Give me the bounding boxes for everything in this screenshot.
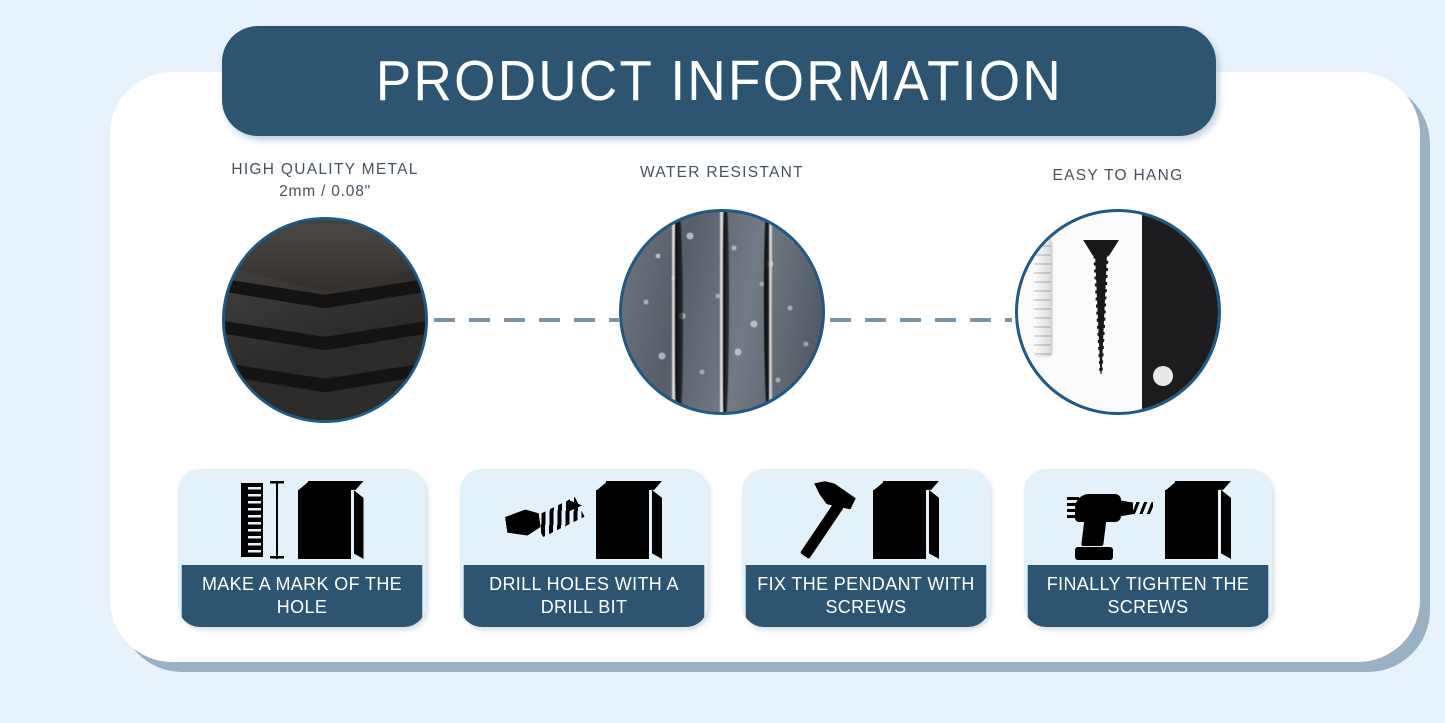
- step-icon-group: [1024, 469, 1272, 565]
- features-row: HIGH QUALITY METAL 2mm / 0.08" WATER RES…: [110, 150, 1420, 440]
- header-banner: PRODUCT INFORMATION: [222, 26, 1216, 136]
- step-icon-group: [742, 469, 990, 565]
- screw-and-wall-anchor-photo: [1015, 209, 1221, 415]
- feature-label: HIGH QUALITY METAL: [195, 160, 455, 181]
- step-card-fix-pendant: FIX THE PENDANT WITH SCREWS: [742, 469, 990, 627]
- ruler-icon: [241, 483, 263, 557]
- step-caption: MAKE A MARK OF THE HOLE: [182, 565, 423, 627]
- box-icon: [596, 481, 662, 559]
- feature-label: WATER RESISTANT: [592, 163, 852, 184]
- power-drill-icon: [1065, 480, 1151, 560]
- hammer-icon: [793, 480, 859, 560]
- feature-label: EASY TO HANG: [988, 166, 1248, 187]
- step-caption: FIX THE PENDANT WITH SCREWS: [746, 565, 987, 627]
- installation-steps-row: MAKE A MARK OF THE HOLE DRILL HOLES WITH…: [178, 469, 1274, 627]
- step-caption: FINALLY TIGHTEN THE SCREWS: [1028, 565, 1269, 627]
- feature-sublabel: 2mm / 0.08": [195, 181, 455, 203]
- box-icon: [298, 481, 364, 559]
- step-icon-group: [178, 469, 426, 565]
- box-icon: [1165, 481, 1231, 559]
- dimension-bar-icon: [270, 481, 284, 559]
- feature-high-quality-metal: HIGH QUALITY METAL 2mm / 0.08": [195, 160, 455, 423]
- connector-dashed-line-1: [434, 318, 620, 322]
- step-card-tighten-screws: FINALLY TIGHTEN THE SCREWS: [1024, 469, 1272, 627]
- box-icon: [873, 481, 939, 559]
- water-droplets-on-metal-photo: [619, 209, 825, 415]
- step-card-drill-holes: DRILL HOLES WITH A DRILL BIT: [460, 469, 708, 627]
- drill-bit-icon: [506, 490, 582, 550]
- feature-easy-to-hang: EASY TO HANG: [988, 166, 1248, 415]
- step-card-make-a-mark: MAKE A MARK OF THE HOLE: [178, 469, 426, 627]
- step-caption: DRILL HOLES WITH A DRILL BIT: [464, 565, 705, 627]
- stacked-metal-sheets-photo: [222, 217, 428, 423]
- step-icon-group: [460, 469, 708, 565]
- connector-dashed-line-2: [830, 318, 1012, 322]
- feature-water-resistant: WATER RESISTANT: [592, 163, 852, 415]
- page-title: PRODUCT INFORMATION: [375, 48, 1062, 114]
